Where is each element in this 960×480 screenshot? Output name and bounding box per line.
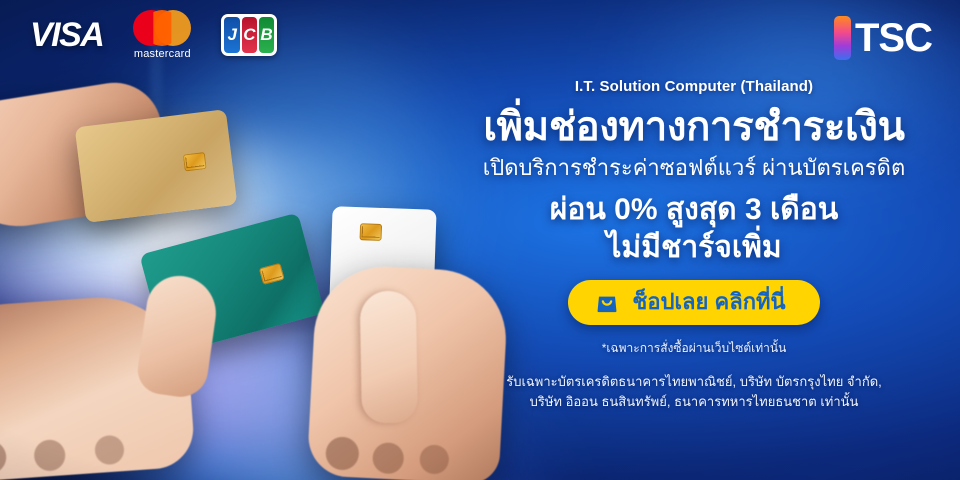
website-only-note: *เฉพาะการสั่งซื้อผ่านเว็บไซต์เท่านั้น — [446, 339, 942, 358]
mastercard-circles-icon — [133, 10, 191, 46]
jcb-letter-j: J — [224, 17, 240, 53]
company-name-eyebrow: I.T. Solution Computer (Thailand) — [446, 78, 942, 95]
shop-now-label: ช็อปเลย คลิกที่นี่ — [632, 289, 785, 315]
cta-wrapper: ช็อปเลย คลิกที่นี่ — [446, 280, 942, 324]
jcb-letter-b: B — [259, 17, 275, 53]
itsc-gradient-bar-icon — [834, 16, 851, 60]
headline: เพิ่มช่องทางการชำระเงิน — [446, 103, 942, 151]
mastercard-logo: mastercard — [133, 10, 191, 60]
shopping-bag-icon — [594, 289, 620, 315]
offer-line: ผ่อน 0% สูงสุด 3 เดือน — [446, 190, 942, 229]
shop-now-button[interactable]: ช็อปเลย คลิกที่นี่ — [568, 280, 819, 324]
jcb-logo: J C B — [221, 14, 277, 56]
disclaimer-line-1: รับเฉพาะบัตรเครดิตธนาคารไทยพาณิชย์, บริษ… — [446, 372, 942, 392]
jcb-letter-c: C — [242, 17, 258, 53]
mastercard-wordmark: mastercard — [134, 48, 191, 60]
itsc-brand-logo: TSC — [834, 16, 932, 60]
visa-logo: VISA — [30, 16, 103, 55]
promo-copy-block: I.T. Solution Computer (Thailand) เพิ่มช… — [446, 78, 942, 412]
itsc-wordmark: TSC — [855, 18, 932, 58]
subheadline: เปิดบริการชำระค่าซอฟต์แวร์ ผ่านบัตรเครดิ… — [446, 153, 942, 183]
offer-line-secondary: ไม่มีชาร์จเพิ่ม — [446, 229, 942, 267]
promo-banner: VISA mastercard J C B TSC I.T. Solution … — [0, 0, 960, 480]
disclaimer-line-2: บริษัท อิออน ธนสินทรัพย์, ธนาคารทหารไทยธ… — [446, 392, 942, 412]
accepted-banks-disclaimer: รับเฉพาะบัตรเครดิตธนาคารไทยพาณิชย์, บริษ… — [446, 372, 942, 412]
payment-logo-row: VISA mastercard J C B — [30, 10, 277, 60]
